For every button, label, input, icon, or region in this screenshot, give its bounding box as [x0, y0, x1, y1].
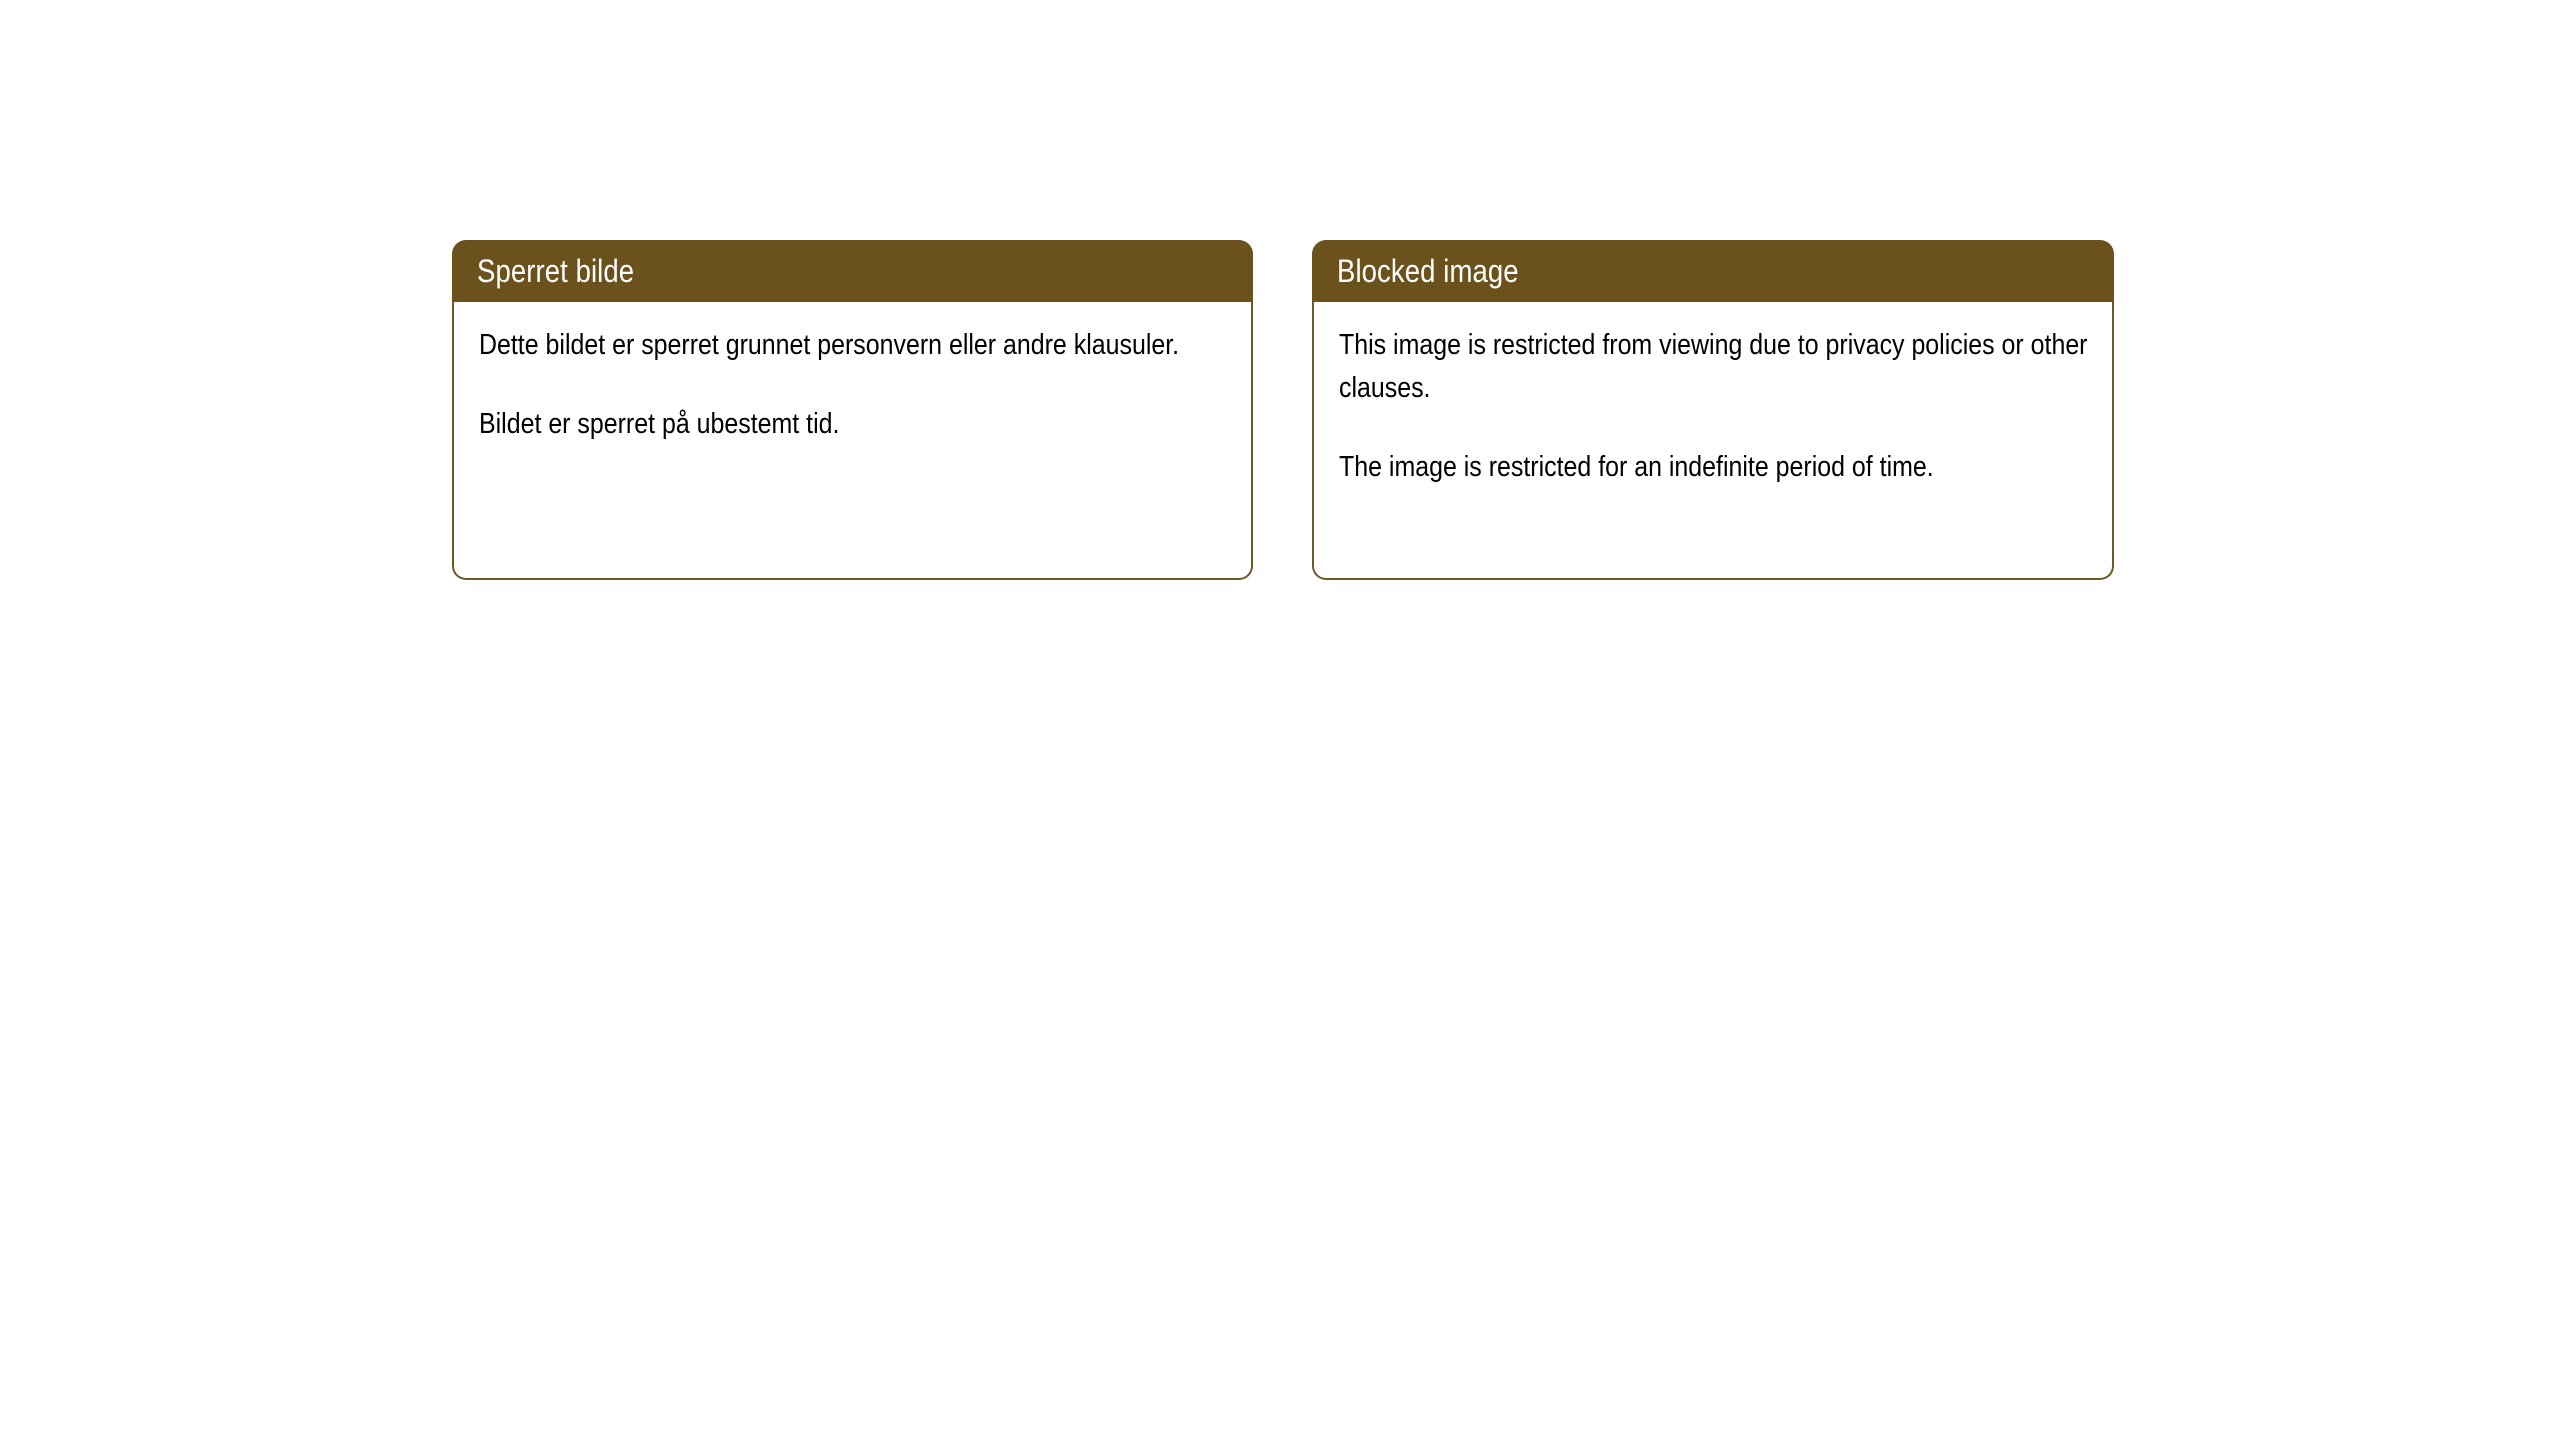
notice-paragraph-duration-en: The image is restricted for an indefinit… [1339, 446, 2092, 489]
blocked-image-notice-en: Blocked image This image is restricted f… [1312, 240, 2114, 580]
notice-header-no: Sperret bilde [452, 240, 1253, 302]
notice-body-no: Dette bildet er sperret grunnet personve… [452, 302, 1253, 580]
notice-body-en: This image is restricted from viewing du… [1312, 302, 2114, 580]
page-canvas: Sperret bilde Dette bildet er sperret gr… [0, 0, 2560, 1440]
notice-paragraph-duration-no: Bildet er sperret på ubestemt tid. [479, 403, 1231, 446]
notice-paragraph-reason-en: This image is restricted from viewing du… [1339, 324, 2092, 410]
notice-paragraph-reason-no: Dette bildet er sperret grunnet personve… [479, 324, 1231, 367]
notice-title-en: Blocked image [1337, 254, 1519, 288]
notice-title-no: Sperret bilde [477, 254, 634, 288]
notice-header-en: Blocked image [1312, 240, 2114, 302]
blocked-image-notice-no: Sperret bilde Dette bildet er sperret gr… [452, 240, 1253, 580]
